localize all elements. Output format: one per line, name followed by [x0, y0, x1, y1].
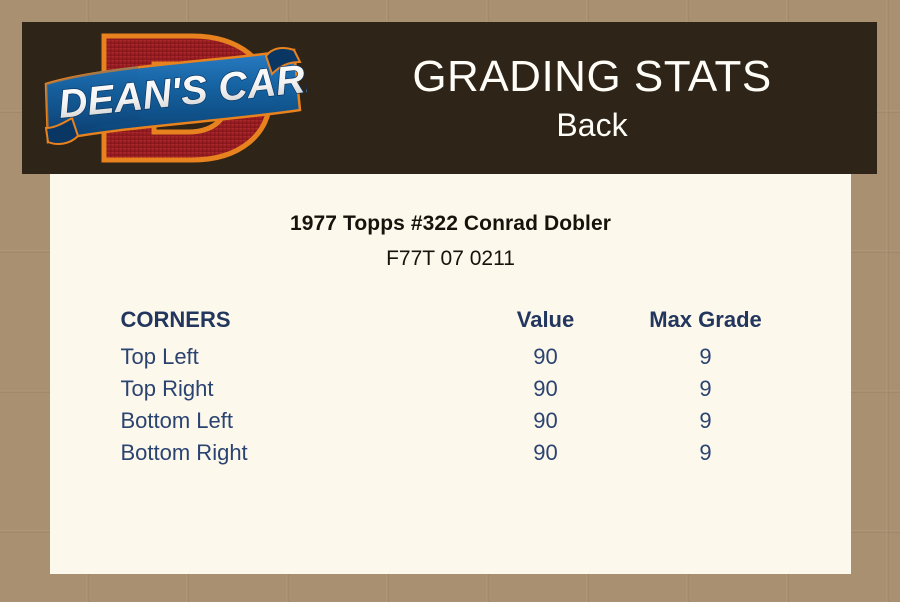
content-panel: 1977 Topps #322 Conrad Dobler F77T 07 02… — [50, 174, 851, 574]
stats-table-head: CORNERS Value Max Grade — [121, 307, 781, 341]
table-row: Top Right909 — [121, 373, 781, 405]
column-header-corners: CORNERS — [121, 307, 461, 341]
column-header-max-grade: Max Grade — [631, 307, 781, 341]
page-title: GRADING STATS — [412, 51, 771, 103]
corner-value: 90 — [461, 405, 631, 437]
column-header-value: Value — [461, 307, 631, 341]
card-serial-number: F77T 07 0211 — [50, 247, 851, 271]
table-row: Bottom Right909 — [121, 437, 781, 469]
corner-max-grade: 9 — [631, 373, 781, 405]
deans-cards-logo-svg: DEAN'S CARDS — [42, 24, 307, 172]
header-bar: DEAN'S CARDS GRADING STATS Back — [22, 22, 877, 174]
corner-max-grade: 9 — [631, 437, 781, 469]
deans-cards-logo[interactable]: DEAN'S CARDS — [42, 24, 307, 172]
corner-value: 90 — [461, 437, 631, 469]
page-subtitle: Back — [556, 105, 627, 145]
corner-label: Bottom Left — [121, 405, 461, 437]
table-row: Bottom Left909 — [121, 405, 781, 437]
corner-max-grade: 9 — [631, 405, 781, 437]
corner-label: Top Left — [121, 341, 461, 373]
stats-table-body: Top Left909Top Right909Bottom Left909Bot… — [121, 341, 781, 469]
corners-stats-table: CORNERS Value Max Grade Top Left909Top R… — [121, 307, 781, 469]
table-row: Top Left909 — [121, 341, 781, 373]
corner-label: Top Right — [121, 373, 461, 405]
stats-header-row: CORNERS Value Max Grade — [121, 307, 781, 341]
corner-max-grade: 9 — [631, 341, 781, 373]
card-title: 1977 Topps #322 Conrad Dobler — [50, 212, 851, 236]
corner-label: Bottom Right — [121, 437, 461, 469]
corner-value: 90 — [461, 341, 631, 373]
corner-value: 90 — [461, 373, 631, 405]
header-title-group: GRADING STATS Back — [307, 22, 877, 174]
grading-stats-page: DEAN'S CARDS GRADING STATS Back 1977 Top… — [0, 0, 900, 602]
